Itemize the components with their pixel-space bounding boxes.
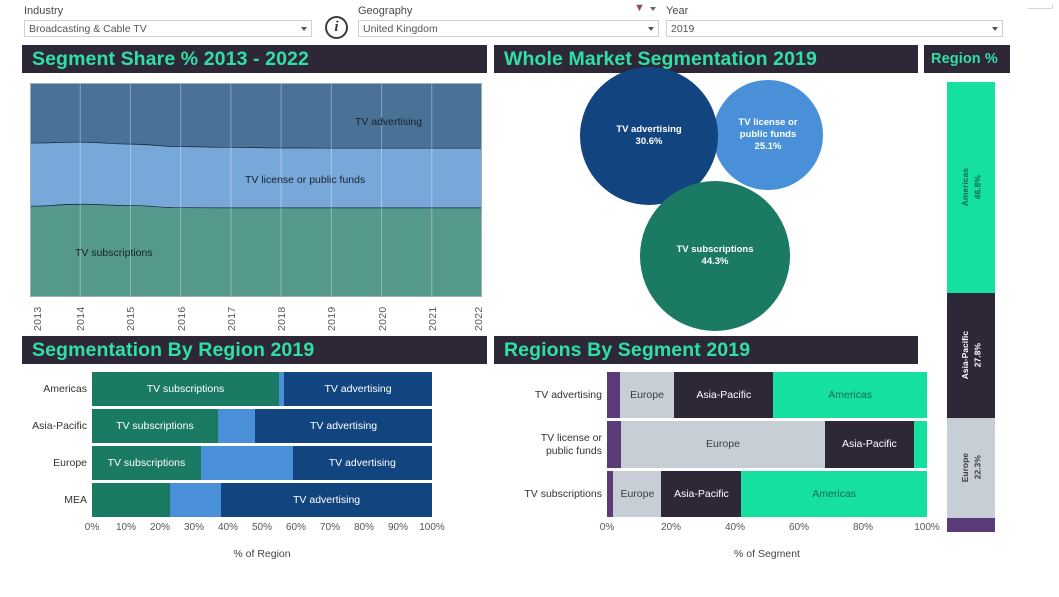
bubble-chart: TV advertising30.6%TV license or public … [494, 73, 918, 335]
bar-row: MEATV advertising [92, 483, 432, 517]
x-axis-tick-label: 2014 [75, 299, 87, 331]
bar-segment-mea[interactable] [607, 372, 620, 418]
bar-segment-tv-license-or-public-funds[interactable] [218, 409, 255, 443]
panel-title-whole-market: Whole Market Segmentation 2019 [494, 45, 918, 73]
year-select[interactable]: 2019 [666, 20, 1003, 37]
bar-row-label: TV subscriptions [496, 488, 607, 500]
panel-title-regions-by-segment: Regions By Segment 2019 [494, 336, 918, 364]
bar-row: Asia-PacificTV subscriptionsTV advertisi… [92, 409, 432, 443]
bar-segment-tv-subscriptions[interactable]: TV subscriptions [92, 446, 201, 480]
info-icon[interactable]: i [325, 16, 348, 39]
region-bar-value: 22.3% [972, 456, 982, 480]
x-axis-tick-label: 2019 [326, 299, 338, 331]
industry-select[interactable]: Broadcasting & Cable TV [24, 20, 312, 37]
region-bar-label: Americas [960, 168, 970, 206]
segmentation-by-region-chart: AmericasTV subscriptionsTV advertisingAs… [92, 372, 432, 517]
region-bar-segment-asia-pacific[interactable]: Asia-Pacific27.8% [947, 293, 995, 418]
x-axis-tick-label: 80% [853, 522, 873, 533]
bar-segment-label: TV subscriptions [116, 420, 194, 432]
industry-label: Industry [24, 5, 63, 17]
dashboard-root: Industry Broadcasting & Cable TV i Geogr… [0, 0, 1059, 597]
bar-segment-europe[interactable]: Europe [621, 421, 824, 467]
bubble-label: TV subscriptions [676, 244, 753, 256]
clear-filter-icon[interactable]: ▼ [634, 3, 647, 14]
bar-segment-europe[interactable]: Europe [620, 372, 674, 418]
bar-segment-label: Asia-Pacific [842, 438, 897, 450]
x-axis-tick-label: 80% [354, 522, 374, 533]
x-axis-tick-label: 90% [388, 522, 408, 533]
x-axis-tick-label: 20% [661, 522, 681, 533]
bar-row-label: Asia-Pacific [23, 420, 92, 432]
x-axis-tick-label: 50% [252, 522, 272, 533]
x-axis-tick-label: 20% [150, 522, 170, 533]
region-bar-label: Asia-Pacific [960, 331, 970, 379]
regions-by-segment-x-axis: 0%20%40%60%80%100% [607, 522, 927, 538]
chevron-down-icon[interactable] [650, 7, 656, 11]
year-label: Year [666, 5, 688, 17]
bar-segment-label: TV subscriptions [147, 383, 225, 395]
bar-segment-label: TV advertising [310, 420, 377, 432]
x-axis-tick-label: 2021 [427, 299, 439, 331]
whole-market-panel: TV advertising30.6%TV license or public … [494, 73, 918, 335]
panel-title-segment-share: Segment Share % 2013 - 2022 [22, 45, 487, 73]
bar-segment-tv-advertising[interactable]: TV advertising [293, 446, 432, 480]
bar-segment-asia-pacific[interactable]: Asia-Pacific [825, 421, 915, 467]
bar-segment-label: TV advertising [293, 494, 360, 506]
area-chart: TV advertising TV license or public fund… [30, 83, 482, 297]
bar-segment-tv-advertising[interactable]: TV advertising [255, 409, 432, 443]
segmentation-by-region-panel: AmericasTV subscriptionsTV advertisingAs… [22, 364, 487, 579]
year-value: 2019 [671, 23, 988, 35]
x-axis-tick-label: 30% [184, 522, 204, 533]
regions-by-segment-chart: TV advertisingEuropeAsia-PacificAmericas… [607, 372, 927, 517]
bar-segment-label: Asia-Pacific [696, 389, 751, 401]
bubble-label: TV advertising [616, 124, 681, 136]
x-axis-tick-label: 70% [320, 522, 340, 533]
area-chart-x-axis: 2013201420152016201720182019202020212022 [30, 299, 482, 333]
x-axis-tick-label: 2018 [276, 299, 288, 331]
panel-title-region-pct: Region % [924, 45, 1010, 73]
geography-value: United Kingdom [363, 23, 644, 35]
region-share-bar[interactable]: Americas46.8%Asia-Pacific27.8%Europe22.3… [946, 81, 996, 533]
bar-segment-americas[interactable]: Americas [741, 471, 927, 517]
region-bar-value: 46.8% [972, 175, 982, 199]
bar-row-label: TV advertising [496, 389, 607, 401]
geography-select[interactable]: United Kingdom [358, 20, 659, 37]
bar-segment-tv-advertising[interactable]: TV advertising [284, 372, 432, 406]
area-label-tv-subscriptions: TV subscriptions [75, 247, 153, 259]
bar-row-label: TV license orpublic funds [496, 432, 607, 456]
bar-segment-tv-license-or-public-funds[interactable] [201, 446, 293, 480]
region-bar-segment-europe[interactable]: Europe22.3% [947, 418, 995, 518]
bar-segment-tv-subscriptions[interactable]: TV subscriptions [92, 409, 218, 443]
bar-row-label: MEA [23, 494, 92, 506]
bar-segment-label: TV advertising [329, 457, 396, 469]
segmentation-by-region-x-axis-title: % of Region [92, 548, 432, 560]
bar-segment-label: TV advertising [324, 383, 391, 395]
window-corner-mark [1027, 8, 1053, 9]
bubble-tv-subscriptions[interactable]: TV subscriptions44.3% [640, 181, 790, 331]
bar-segment-label: Asia-Pacific [674, 488, 729, 500]
bar-segment-tv-subscriptions[interactable] [92, 483, 170, 517]
bar-row: EuropeTV subscriptionsTV advertising [92, 446, 432, 480]
bar-row: AmericasTV subscriptionsTV advertising [92, 372, 432, 406]
x-axis-tick-label: 0% [600, 522, 614, 533]
x-axis-tick-label: 40% [218, 522, 238, 533]
regions-by-segment-panel: TV advertisingEuropeAsia-PacificAmericas… [494, 364, 918, 579]
bar-segment-tv-subscriptions[interactable]: TV subscriptions [92, 372, 279, 406]
bar-row-label: Americas [23, 383, 92, 395]
bar-segment-americas[interactable]: Americas [773, 372, 927, 418]
bar-row-label: Europe [23, 457, 92, 469]
bubble-value: 44.3% [702, 256, 729, 268]
chevron-down-icon[interactable] [648, 27, 654, 31]
region-bar-value: 27.8% [972, 343, 982, 367]
bubble-value: 25.1% [755, 141, 782, 153]
bubble-tv-license-or-public-funds[interactable]: TV license or public funds25.1% [713, 80, 823, 190]
bar-row: TV license orpublic fundsEuropeAsia-Paci… [607, 421, 927, 467]
bubble-value: 30.6% [636, 136, 663, 148]
bar-segment-mea[interactable] [607, 421, 621, 467]
x-axis-tick-label: 2017 [226, 299, 238, 331]
x-axis-tick-label: 40% [725, 522, 745, 533]
segmentation-by-region-x-axis: 0%10%20%30%40%50%60%70%80%90%100% [92, 522, 432, 538]
x-axis-tick-label: 2020 [377, 299, 389, 331]
chevron-down-icon[interactable] [301, 27, 307, 31]
clear-filter-button[interactable]: ▼ [634, 3, 656, 14]
bar-segment-tv-license-or-public-funds[interactable] [170, 483, 221, 517]
chevron-down-icon[interactable] [992, 27, 998, 31]
bar-segment-label: Europe [620, 488, 654, 500]
x-axis-tick-label: 10% [116, 522, 136, 533]
panel-title-segmentation-by-region: Segmentation By Region 2019 [22, 336, 487, 364]
x-axis-tick-label: 60% [789, 522, 809, 533]
bar-segment-tv-advertising[interactable]: TV advertising [221, 483, 432, 517]
region-bar-segment-americas[interactable]: Americas46.8% [947, 82, 995, 293]
bar-segment-label: TV subscriptions [108, 457, 186, 469]
x-axis-tick-label: 2013 [32, 299, 44, 331]
x-axis-tick-label: 2015 [125, 299, 137, 331]
bar-segment-label: Europe [706, 438, 740, 450]
bar-row: TV subscriptionsEuropeAsia-PacificAmeric… [607, 471, 927, 517]
x-axis-tick-label: 100% [419, 522, 445, 533]
x-axis-tick-label: 0% [85, 522, 99, 533]
bubble-label: TV license or public funds [725, 117, 811, 141]
industry-value: Broadcasting & Cable TV [29, 23, 297, 35]
x-axis-tick-label: 60% [286, 522, 306, 533]
bar-segment-label: Europe [630, 389, 664, 401]
bar-segment-label: Americas [828, 389, 872, 401]
x-axis-tick-label: 2016 [176, 299, 188, 331]
bar-segment-europe[interactable]: Europe [613, 471, 661, 517]
region-bar-label: Europe [960, 453, 970, 482]
bar-segment-asia-pacific[interactable]: Asia-Pacific [661, 471, 741, 517]
filter-bar: Industry Broadcasting & Cable TV i Geogr… [0, 0, 1059, 44]
segment-share-panel: TV advertising TV license or public fund… [22, 73, 487, 335]
bar-segment-americas[interactable] [914, 421, 927, 467]
bar-row: TV advertisingEuropeAsia-PacificAmericas [607, 372, 927, 418]
regions-by-segment-x-axis-title: % of Segment [607, 548, 927, 560]
bar-segment-asia-pacific[interactable]: Asia-Pacific [674, 372, 773, 418]
x-axis-tick-label: 2022 [473, 299, 485, 331]
area-label-tv-advertising: TV advertising [355, 116, 422, 128]
x-axis-tick-label: 100% [914, 522, 940, 533]
region-bar-segment-mea[interactable] [947, 518, 995, 532]
bar-segment-label: Americas [812, 488, 856, 500]
geography-label: Geography [358, 5, 412, 17]
area-label-tv-license: TV license or public funds [245, 174, 365, 186]
